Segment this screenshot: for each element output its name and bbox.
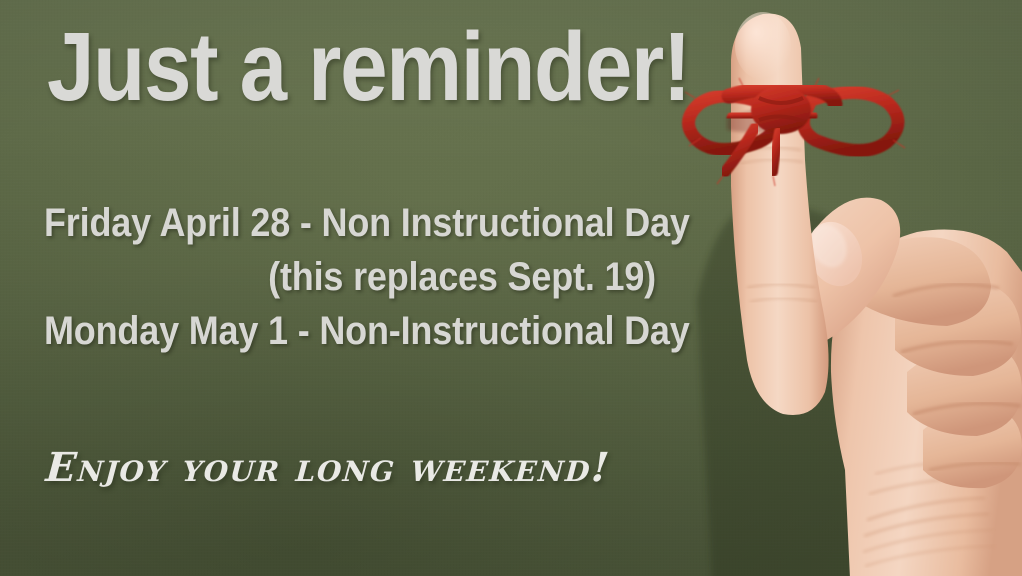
bow-loop-right xyxy=(803,92,898,150)
bow-tail-right xyxy=(773,132,779,172)
fingertip-highlight xyxy=(735,12,791,80)
signoff-text: Enjoy your long weekend! xyxy=(44,444,612,491)
notice-line-2: (this replaces Sept. 19) xyxy=(105,250,656,304)
page-title: Just a reminder! xyxy=(47,21,690,113)
poster-text-block: Just a reminder! Friday April 28 - Non I… xyxy=(0,0,700,576)
hand-with-reminder-string-image xyxy=(655,0,1022,576)
notice-line-1: Friday April 28 - Non Instructional Day xyxy=(44,196,595,250)
reminder-poster: Just a reminder! Friday April 28 - Non I… xyxy=(0,0,1022,576)
notice-lines: Friday April 28 - Non Instructional Day … xyxy=(44,196,656,358)
notice-line-3: Monday May 1 - Non-Instructional Day xyxy=(44,304,595,358)
